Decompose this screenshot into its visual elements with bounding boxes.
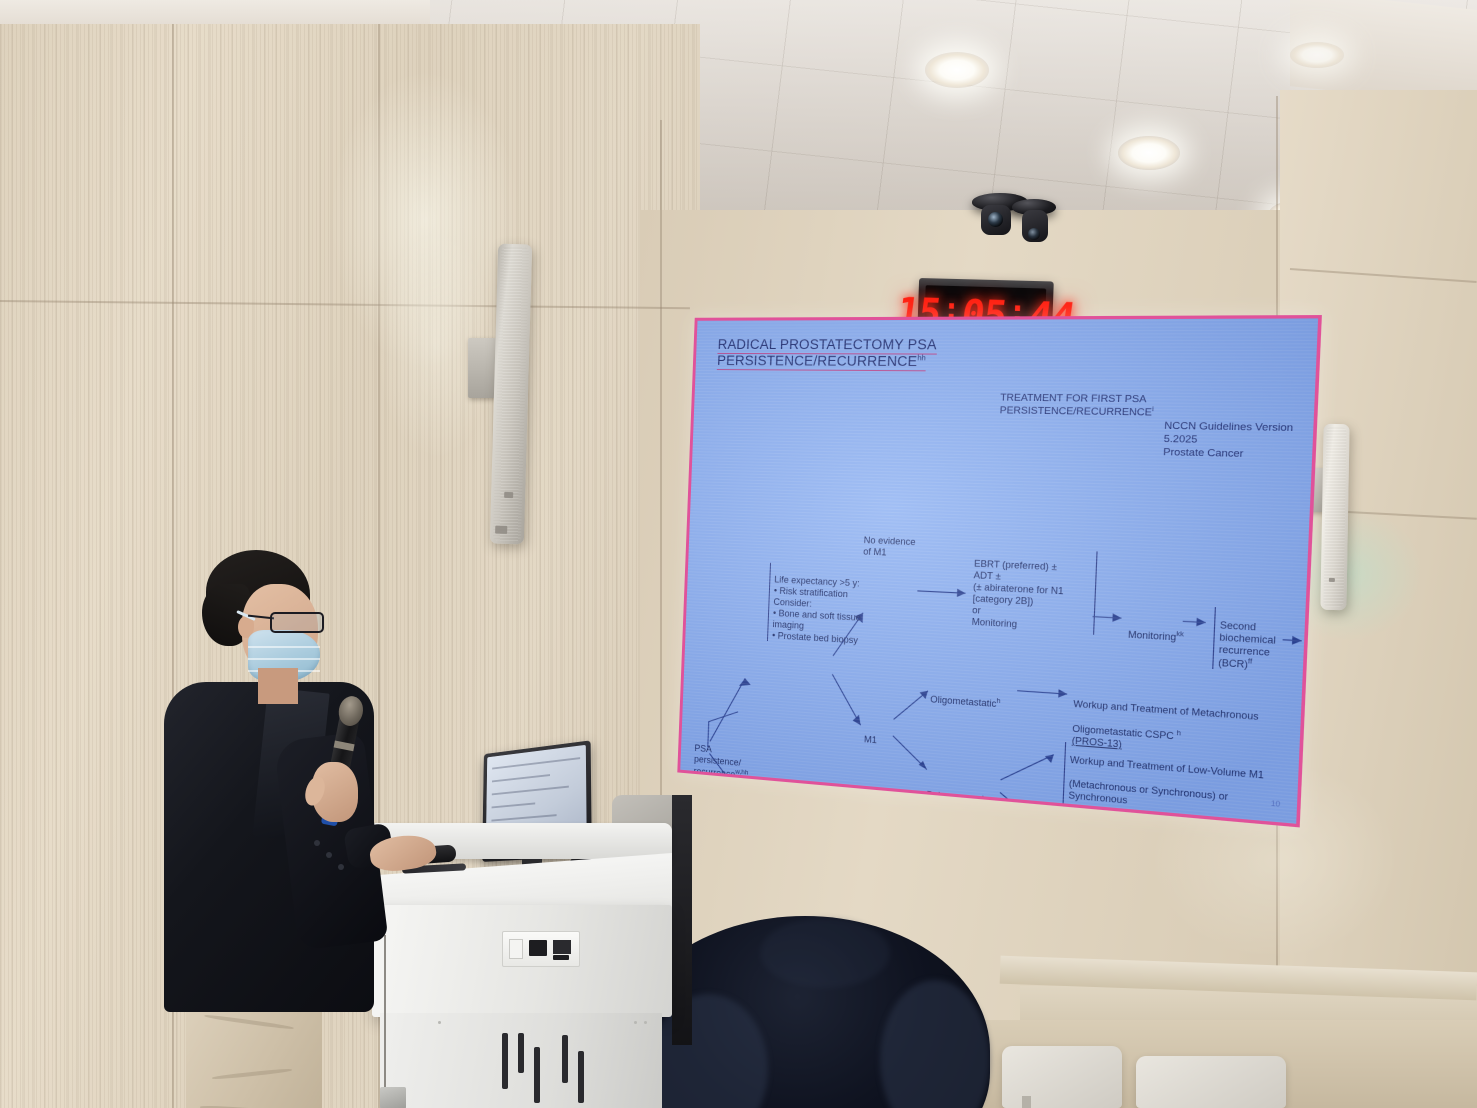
speaker-logo xyxy=(495,526,507,534)
mask-pleat xyxy=(248,658,320,660)
speaker-logo xyxy=(504,492,513,498)
network-port-icon[interactable] xyxy=(553,940,571,954)
lectern-vent-slot xyxy=(562,1035,568,1083)
hair-wisp xyxy=(760,918,890,988)
trouser-fold xyxy=(212,1068,292,1080)
monitor-text-line xyxy=(491,814,556,821)
usb-port-icon[interactable] xyxy=(553,955,569,960)
lectern-vent-slot xyxy=(502,1033,508,1089)
trouser-fold xyxy=(204,1014,294,1030)
speaker-grille xyxy=(1323,427,1346,607)
lectern-vent-slot xyxy=(534,1047,540,1103)
connector-panel xyxy=(502,931,580,967)
blazer-button xyxy=(326,852,332,858)
blazer-button xyxy=(314,840,320,846)
monitor-text-line xyxy=(492,757,580,769)
trouser-fold xyxy=(200,1105,296,1108)
camera-lens-icon xyxy=(1028,228,1040,240)
lectern-vent-slot xyxy=(578,1051,584,1103)
lectern-side-panel xyxy=(672,795,692,1045)
audience-chair xyxy=(1002,1046,1122,1108)
camera-lens-icon xyxy=(988,212,1003,227)
slide-surface: RADICAL PROSTATECTOMY PSA PERSISTENCE/RE… xyxy=(680,318,1318,823)
lecture-hall-photo: 15 : 05 : 44 RADICAL PROSTATECTOMY PSA P… xyxy=(0,0,1477,1108)
projection-screen: RADICAL PROSTATECTOMY PSA PERSISTENCE/RE… xyxy=(677,315,1322,827)
lectern-vent-slot xyxy=(518,1033,524,1073)
speaker-bracket xyxy=(468,338,496,398)
presenter xyxy=(150,540,460,1108)
wall-speaker-right xyxy=(1320,424,1349,610)
lectern-fastener xyxy=(644,1021,647,1024)
presenter-neck xyxy=(258,668,298,704)
hdmi-port-icon[interactable] xyxy=(529,940,547,956)
lectern-fastener xyxy=(634,1021,637,1024)
downlight-icon xyxy=(925,52,989,88)
audience-chair xyxy=(1136,1056,1286,1108)
mic-band xyxy=(334,741,355,752)
monitor-text-line xyxy=(492,786,569,796)
screen-vignette xyxy=(680,318,1318,823)
downlight-icon xyxy=(1118,136,1180,170)
mask-pleat xyxy=(248,646,320,648)
chair-leg xyxy=(1022,1096,1031,1108)
speaker-logo xyxy=(1329,578,1335,582)
power-socket-icon[interactable] xyxy=(509,939,523,959)
monitor-text-line xyxy=(492,802,536,808)
blazer-button xyxy=(338,864,344,870)
monitor-text-line xyxy=(492,774,550,782)
downlight-icon xyxy=(1290,42,1344,68)
glasses-icon xyxy=(270,612,324,633)
